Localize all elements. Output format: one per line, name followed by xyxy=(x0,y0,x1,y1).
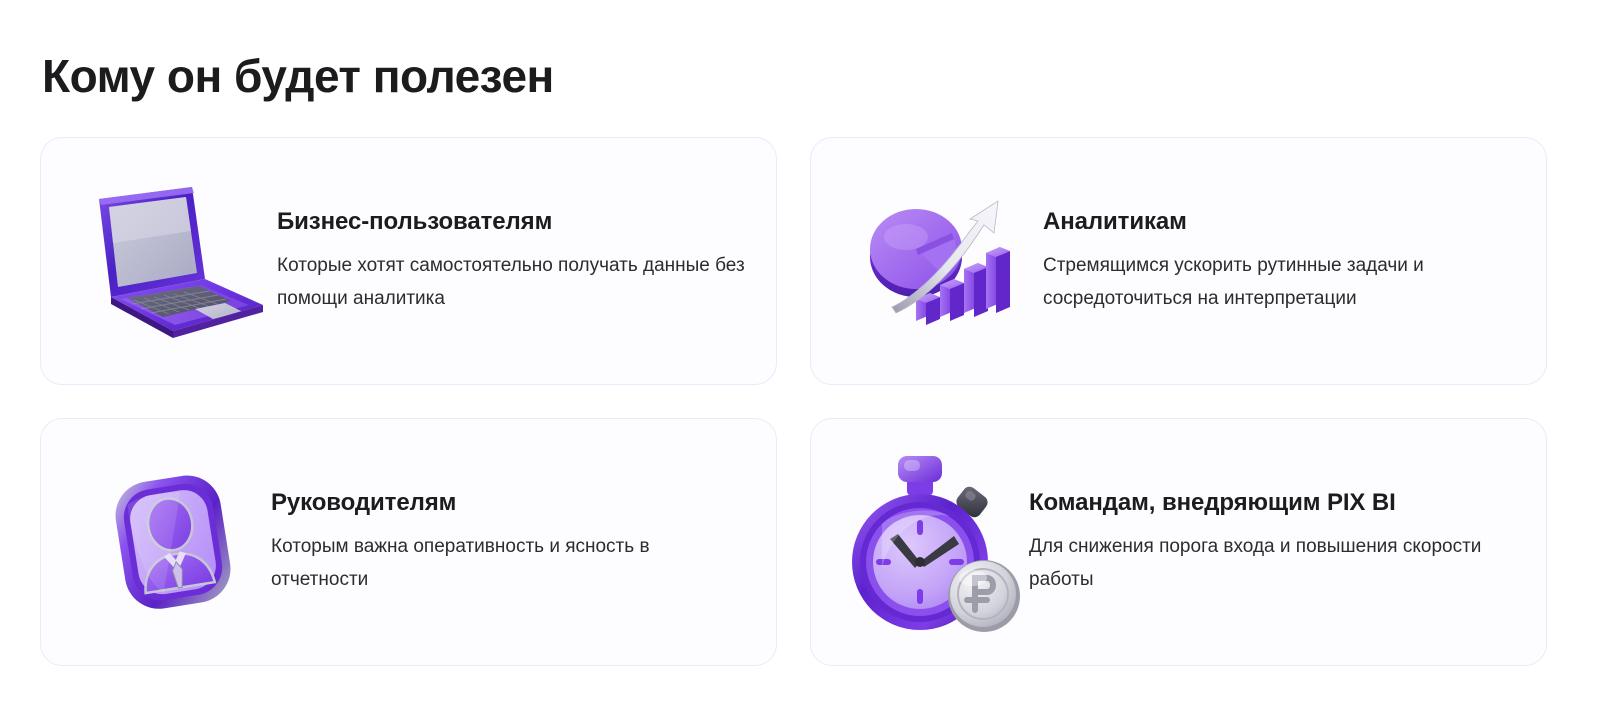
page-root: Кому он будет полезен xyxy=(0,0,1600,706)
card-business-users[interactable]: Бизнес-пользователям Которые хотят самос… xyxy=(40,137,777,385)
card-description: Стремящимся ускорить рутинные задачи и с… xyxy=(1043,249,1520,315)
audience-cards-grid: Бизнес-пользователям Которые хотят самос… xyxy=(40,137,1570,666)
card-managers[interactable]: Руководителям Которым важна оперативност… xyxy=(40,418,777,666)
card-title: Командам, внедряющим PIX BI xyxy=(1029,488,1520,518)
card-text-block: Бизнес-пользователям Которые хотят самос… xyxy=(277,207,776,315)
card-title: Бизнес-пользователям xyxy=(277,207,750,237)
page-title: Кому он будет полезен xyxy=(42,45,554,107)
card-text-block: Аналитикам Стремящимся ускорить рутинные… xyxy=(1043,207,1546,315)
card-title: Аналитикам xyxy=(1043,207,1520,237)
card-description: Которые хотят самостоятельно получать да… xyxy=(277,249,747,315)
stopwatch-ruble-coin-3d-icon xyxy=(837,447,1027,637)
pie-bar-chart-growth-3d-icon xyxy=(845,171,1041,351)
card-description: Для снижения порога входа и повышения ск… xyxy=(1029,530,1499,596)
user-badge-3d-icon xyxy=(79,452,269,632)
card-title: Руководителям xyxy=(271,488,750,518)
card-description: Которым важна оперативность и ясность в … xyxy=(271,530,741,596)
laptop-3d-icon xyxy=(79,171,275,351)
card-text-block: Командам, внедряющим PIX BI Для снижения… xyxy=(1029,488,1546,596)
card-teams[interactable]: Командам, внедряющим PIX BI Для снижения… xyxy=(810,418,1547,666)
card-analysts[interactable]: Аналитикам Стремящимся ускорить рутинные… xyxy=(810,137,1547,385)
card-text-block: Руководителям Которым важна оперативност… xyxy=(271,488,776,596)
